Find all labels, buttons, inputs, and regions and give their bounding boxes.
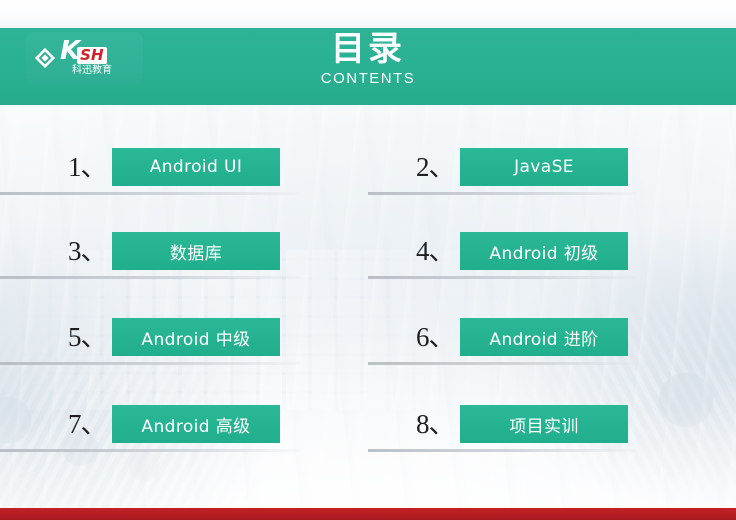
item-underline [368, 192, 636, 195]
item-label: Android UI [150, 157, 243, 177]
item-underline [368, 362, 636, 365]
item-number: 4、 [416, 232, 460, 270]
item-underline [368, 276, 636, 279]
contents-item-1[interactable]: 1、 Android UI [0, 148, 368, 206]
item-chip[interactable]: Android 进阶 [460, 318, 628, 356]
item-underline [0, 192, 300, 195]
item-chip[interactable]: 数据库 [112, 232, 280, 270]
item-chip[interactable]: Android 高级 [112, 405, 280, 443]
item-underline [368, 449, 636, 452]
contents-item-2[interactable]: 2、 JavaSE [368, 148, 736, 206]
item-chip[interactable]: Android 初级 [460, 232, 628, 270]
contents-item-7[interactable]: 7、 Android 高级 [0, 405, 368, 463]
item-underline [0, 362, 300, 365]
item-number: 3、 [68, 232, 112, 270]
contents-item-8[interactable]: 8、 项目实训 [368, 405, 736, 463]
bottom-accent-bar [0, 508, 736, 520]
item-label: Android 中级 [141, 325, 250, 350]
item-number: 6、 [416, 318, 460, 356]
item-chip[interactable]: 项目实训 [460, 405, 628, 443]
contents-slide: K SH 科迅教育 目录 CONTENTS 1、 Android UI 2、 [0, 0, 736, 520]
item-label: Android 初级 [489, 239, 598, 264]
contents-row: 7、 Android 高级 8、 项目实训 [0, 405, 736, 463]
item-label: 项目实训 [509, 412, 579, 437]
contents-item-5[interactable]: 5、 Android 中级 [0, 318, 368, 376]
slide-header: K SH 科迅教育 目录 CONTENTS [0, 28, 736, 105]
contents-item-6[interactable]: 6、 Android 进阶 [368, 318, 736, 376]
item-label: JavaSE [514, 157, 574, 177]
item-number: 1、 [68, 148, 112, 186]
contents-row: 5、 Android 中级 6、 Android 进阶 [0, 318, 736, 376]
contents-row: 3、 数据库 4、 Android 初级 [0, 232, 736, 290]
item-number: 5、 [68, 318, 112, 356]
item-label: Android 进阶 [489, 325, 598, 350]
item-underline [0, 449, 300, 452]
item-underline [0, 276, 300, 279]
header-title-block: 目录 CONTENTS [0, 32, 736, 87]
item-number: 8、 [416, 405, 460, 443]
contents-list: 1、 Android UI 2、 JavaSE 3、 数据库 [0, 135, 736, 470]
item-number: 7、 [68, 405, 112, 443]
item-chip[interactable]: Android 中级 [112, 318, 280, 356]
header-top-strip [0, 0, 736, 28]
item-chip[interactable]: JavaSE [460, 148, 628, 186]
contents-item-3[interactable]: 3、 数据库 [0, 232, 368, 290]
contents-item-4[interactable]: 4、 Android 初级 [368, 232, 736, 290]
page-subtitle: CONTENTS [0, 70, 736, 87]
page-title: 目录 [0, 32, 736, 68]
item-number: 2、 [416, 148, 460, 186]
item-chip[interactable]: Android UI [112, 148, 280, 186]
item-label: 数据库 [170, 239, 222, 264]
contents-row: 1、 Android UI 2、 JavaSE [0, 148, 736, 206]
item-label: Android 高级 [141, 412, 250, 437]
